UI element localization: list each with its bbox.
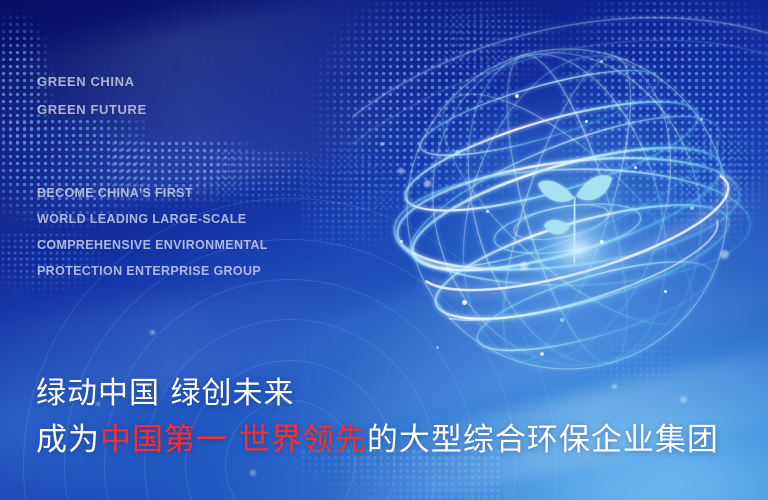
tagline-green-china: GREEN CHINA <box>37 74 135 89</box>
wireframe-globe <box>352 14 768 394</box>
headline-line-1: 绿动中国 绿创未来 <box>36 368 295 412</box>
headline-highlight: 中国第一 世界领先 <box>100 422 367 458</box>
slogan-line-2: WORLD LEADING LARGE-SCALE <box>37 212 246 226</box>
headline-prefix: 成为 <box>36 422 100 458</box>
tagline-green-future: GREEN FUTURE <box>37 102 147 117</box>
slogan-line-4: PROTECTION ENTERPRISE GROUP <box>37 264 261 278</box>
headline-suffix: 的大型综合环保企业集团 <box>367 422 719 458</box>
slogan-line-1: BECOME CHINA'S FIRST <box>37 186 193 200</box>
hero-banner: GREEN CHINA GREEN FUTURE BECOME CHINA'S … <box>0 0 768 500</box>
slogan-line-3: COMPREHENSIVE ENVIRONMENTAL <box>37 238 268 252</box>
headline-line-2: 成为中国第一 世界领先的大型综合环保企业集团 <box>36 414 719 459</box>
sprout-icon <box>530 162 620 270</box>
